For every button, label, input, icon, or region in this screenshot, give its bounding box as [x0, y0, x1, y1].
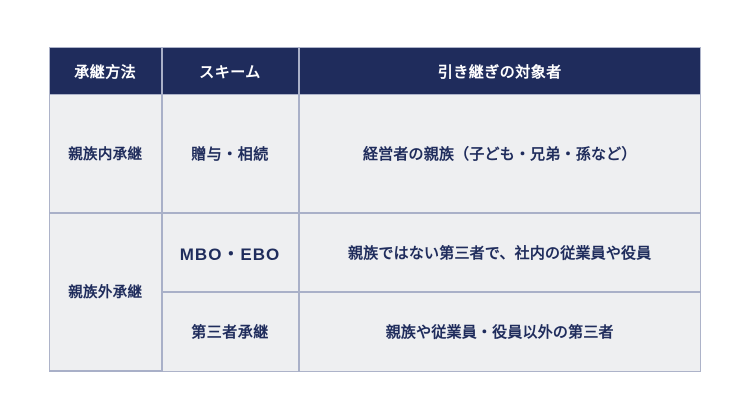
cell-scheme-gift-inheritance: 贈与・相続 — [162, 95, 299, 213]
cell-scheme-third-party: 第三者承継 — [162, 292, 299, 371]
header-scheme: スキーム — [162, 48, 299, 95]
succession-table-container: 承継方法 スキーム 引き継ぎの対象者 親族内承継 贈与・相続 経営者の親族（子ど… — [49, 47, 701, 372]
table-header: 承継方法 スキーム 引き継ぎの対象者 — [50, 48, 701, 95]
cell-target-third-party: 親族や従業員・役員以外の第三者 — [299, 292, 701, 371]
header-succession-method: 承継方法 — [50, 48, 162, 95]
cell-target-relatives: 経営者の親族（子ども・兄弟・孫など） — [299, 95, 701, 213]
table-body: 親族内承継 贈与・相続 経営者の親族（子ども・兄弟・孫など） 親族外承継 MBO… — [50, 95, 701, 372]
table-row: 親族外承継 MBO・EBO 親族ではない第三者で、社内の従業員や役員 — [50, 213, 701, 292]
cell-scheme-mbo-ebo: MBO・EBO — [162, 213, 299, 292]
header-target-person: 引き継ぎの対象者 — [299, 48, 701, 95]
cell-method-non-family: 親族外承継 — [50, 213, 162, 371]
succession-methods-table: 承継方法 スキーム 引き継ぎの対象者 親族内承継 贈与・相続 経営者の親族（子ど… — [49, 47, 701, 372]
page-canvas: 承継方法 スキーム 引き継ぎの対象者 親族内承継 贈与・相続 経営者の親族（子ど… — [0, 0, 750, 420]
table-row: 親族内承継 贈与・相続 経営者の親族（子ども・兄弟・孫など） — [50, 95, 701, 213]
cell-method-intra-family: 親族内承継 — [50, 95, 162, 213]
cell-target-internal-employees: 親族ではない第三者で、社内の従業員や役員 — [299, 213, 701, 292]
table-header-row: 承継方法 スキーム 引き継ぎの対象者 — [50, 48, 701, 95]
